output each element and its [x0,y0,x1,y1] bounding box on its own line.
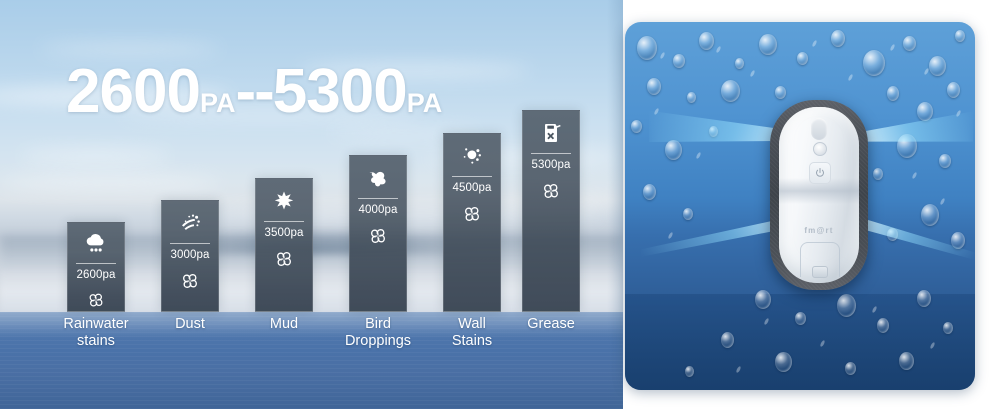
mist-streak [848,74,854,82]
robot-bottom-port [812,266,828,278]
bar-rainwater-stains: 2600pa [67,222,125,312]
water-drop [795,312,806,325]
bar-value-label: 4500pa [453,182,492,195]
mist-streak [660,52,666,60]
bar-value-label: 5300pa [532,159,571,172]
left-scene-panel: 2600PA--5300PA 2600pa [0,0,623,409]
water-drop [873,168,883,180]
mist-streak [716,46,722,54]
bar-label-grease: Grease [491,316,611,333]
bar-bird-droppings: 4000pa [349,155,407,312]
water-drop [845,362,856,375]
water-drop [735,58,744,69]
water-drop [755,290,771,309]
mist-streak [940,198,946,206]
water-drop [797,52,808,65]
mist-streak [956,110,962,118]
water-drop [775,352,792,372]
water-drop [647,78,661,95]
water-drop [665,140,682,160]
water-drop [955,30,965,42]
dust-icon [176,210,204,236]
bar-mud: 3500pa [255,178,313,312]
water-drop [759,34,777,55]
mist-streak [696,152,702,160]
water-drop [899,352,914,370]
product-showcase-panel: fm@rt [625,22,975,390]
water-drop [775,86,786,99]
water-drop [897,134,917,158]
bar-grease: 5300pa [522,110,580,312]
water-drop [683,208,693,220]
water-drop [917,290,931,307]
power-icon [814,167,826,179]
mist-streak [820,340,826,348]
fan-icon [178,269,202,293]
water-drop [631,120,642,133]
label-line-2: Stains [412,333,532,350]
power-button[interactable] [809,162,831,184]
water-drop [877,318,889,333]
fan-icon [460,202,484,226]
water-drop [887,228,898,241]
bar-dust: 3000pa [161,200,219,312]
robot-sensor-dot [813,142,827,156]
water-drop [699,32,714,50]
water-drop [643,184,656,200]
fan-icon [539,179,563,203]
panel-edge-shadow [607,0,623,409]
water-drop [917,102,933,121]
water-drop [887,86,899,101]
water-drop [709,126,718,137]
mist-streak [668,232,674,240]
mist-streak [890,44,896,52]
mist-streak [654,108,660,116]
mist-streak [736,366,742,374]
water-drop [863,50,885,76]
bar-value-label: 4000pa [359,204,398,217]
mud-splash-icon [270,188,298,214]
bar-value-label: 3500pa [265,227,304,240]
water-drop [947,82,960,98]
robot-sensor-slot [811,118,827,140]
mist-streak [764,318,770,326]
bar-divider [358,198,398,199]
rain-cloud-icon [82,232,110,256]
bar-divider [170,243,210,244]
water-drop [951,232,965,249]
bird-dropping-icon [364,165,392,191]
mist-streak [924,68,930,76]
water-drop [921,204,939,226]
bar-wall-stains: 4500pa [443,133,501,312]
water-drop [685,366,694,377]
wall-stain-icon [458,143,486,169]
water-drop [837,294,856,317]
bar-value-label: 2600pa [77,269,116,282]
water-drop [939,154,951,168]
water-drop [687,92,696,103]
water-drop [831,30,845,47]
water-drop [903,36,916,51]
grease-can-icon [537,120,565,146]
water-drop [943,322,953,334]
water-drop [721,332,734,348]
bar-divider [76,263,116,264]
suction-bar-chart: 2600pa Rainwater stains [0,0,623,409]
bar-divider [264,221,304,222]
water-drop [929,56,946,76]
bar-value-label: 3000pa [171,249,210,262]
mist-streak [912,172,918,180]
label-line-2: stains [36,333,156,350]
mist-streak [930,342,936,350]
bar-divider [531,153,571,154]
water-drop [721,80,740,102]
fan-icon [272,247,296,271]
promo-banner: 2600PA--5300PA 2600pa [0,0,1000,409]
mist-streak [872,306,878,314]
bar-divider [452,176,492,177]
mist-streak [750,70,756,78]
brand-label: fm@rt [770,226,868,235]
window-cleaning-robot: fm@rt [770,100,868,290]
fan-icon [366,224,390,248]
label-line-1: Grease [491,316,611,333]
water-drop [637,36,657,60]
water-drop [673,54,685,68]
mist-streak [812,40,818,48]
fan-icon [84,289,108,311]
